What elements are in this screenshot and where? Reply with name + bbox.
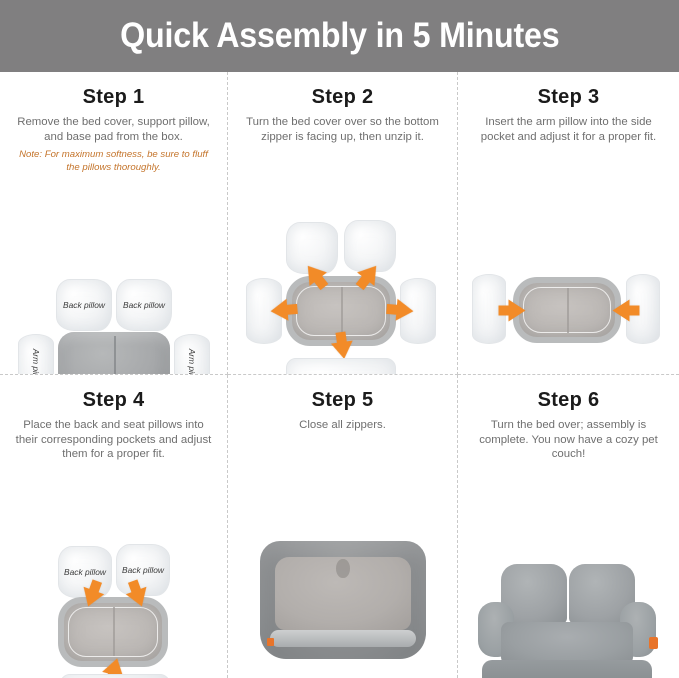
page-title: Quick Assembly in 5 Minutes — [120, 16, 559, 56]
step-card-3: Step 3 Insert the arm pillow into the si… — [458, 72, 679, 375]
step-1-title: Step 1 — [0, 86, 227, 109]
arm-pillow-left-label: Arm pillow — [31, 349, 41, 375]
back-pillow-right-label: Back pillow — [117, 300, 171, 310]
bed-cover — [58, 332, 170, 375]
back-pillow-right: Back pillow — [116, 279, 172, 331]
bed-bottom-rim — [270, 630, 416, 647]
step-card-6: Step 6 Turn the bed over; assembly is co… — [458, 375, 679, 678]
assembly-infographic: Quick Assembly in 5 Minutes Step 1 Remov… — [0, 0, 679, 678]
step-3-description: Insert the arm pillow into the side pock… — [470, 115, 667, 144]
finished-pet-couch — [478, 564, 656, 678]
step-3-illustration — [458, 144, 679, 375]
step-card-2: Step 2 Turn the bed cover over so the bo… — [228, 72, 458, 375]
step-4-illustration: Back pillow Back pillow Seat pillow — [0, 462, 227, 678]
step-1-description: Remove the bed cover, support pillow, an… — [12, 115, 215, 144]
brand-tag-icon — [649, 637, 658, 649]
step-4-title: Step 4 — [0, 389, 227, 412]
step-6-illustration — [458, 462, 679, 678]
step-3-title: Step 3 — [458, 86, 679, 109]
base-pad — [286, 358, 396, 375]
back-pillow-right-label: Back pillow — [117, 565, 169, 575]
brand-tag-icon — [267, 638, 274, 646]
steps-grid: Step 1 Remove the bed cover, support pil… — [0, 72, 679, 678]
step-2-illustration — [228, 144, 457, 375]
assembled-bed-upside-down — [260, 541, 426, 659]
arrow-left — [270, 299, 289, 322]
cover-center-seam — [567, 288, 569, 333]
back-pillow-left-label: Back pillow — [57, 300, 111, 310]
step-5-title: Step 5 — [228, 389, 457, 412]
couch-base — [482, 660, 653, 678]
cover-center-seam — [341, 287, 343, 336]
step-2-title: Step 2 — [228, 86, 457, 109]
step-5-illustration — [228, 433, 457, 678]
cover-center-seam — [113, 607, 115, 656]
seat-pillow: Seat pillow — [60, 674, 170, 678]
step-card-1: Step 1 Remove the bed cover, support pil… — [0, 72, 228, 375]
arm-pillow-right-label: Arm pillow — [187, 349, 197, 375]
bed-cover-flipped — [513, 277, 621, 343]
arm-pillow-right: Arm pillow — [174, 334, 210, 375]
arm-pillow-left: Arm pillow — [18, 334, 54, 375]
arrow-insert-right — [613, 300, 630, 322]
step-card-5: Step 5 Close all zippers. — [228, 375, 458, 678]
back-pillow-left: Back pillow — [56, 279, 112, 331]
header-banner: Quick Assembly in 5 Minutes — [0, 0, 679, 72]
cover-seam — [114, 336, 116, 375]
step-card-4: Step 4 Place the back and seat pillows i… — [0, 375, 228, 678]
step-1-note: Note: For maximum softness, be sure to f… — [16, 149, 211, 174]
arrow-insert-left — [509, 300, 526, 322]
step-5-description: Close all zippers. — [240, 418, 445, 433]
arrow-right — [396, 299, 415, 322]
step-6-title: Step 6 — [458, 389, 679, 412]
step-1-illustration: Back pillow Back pillow Arm pillow Arm p… — [0, 174, 227, 375]
step-2-description: Turn the bed cover over so the bottom zi… — [240, 115, 445, 144]
back-pillow-left-label: Back pillow — [59, 567, 111, 577]
step-6-description: Turn the bed over; assembly is complete.… — [470, 418, 667, 462]
couch-seat-cushion — [501, 622, 633, 665]
bed-center-dimple — [336, 559, 349, 578]
step-4-description: Place the back and seat pillows into the… — [12, 418, 215, 462]
